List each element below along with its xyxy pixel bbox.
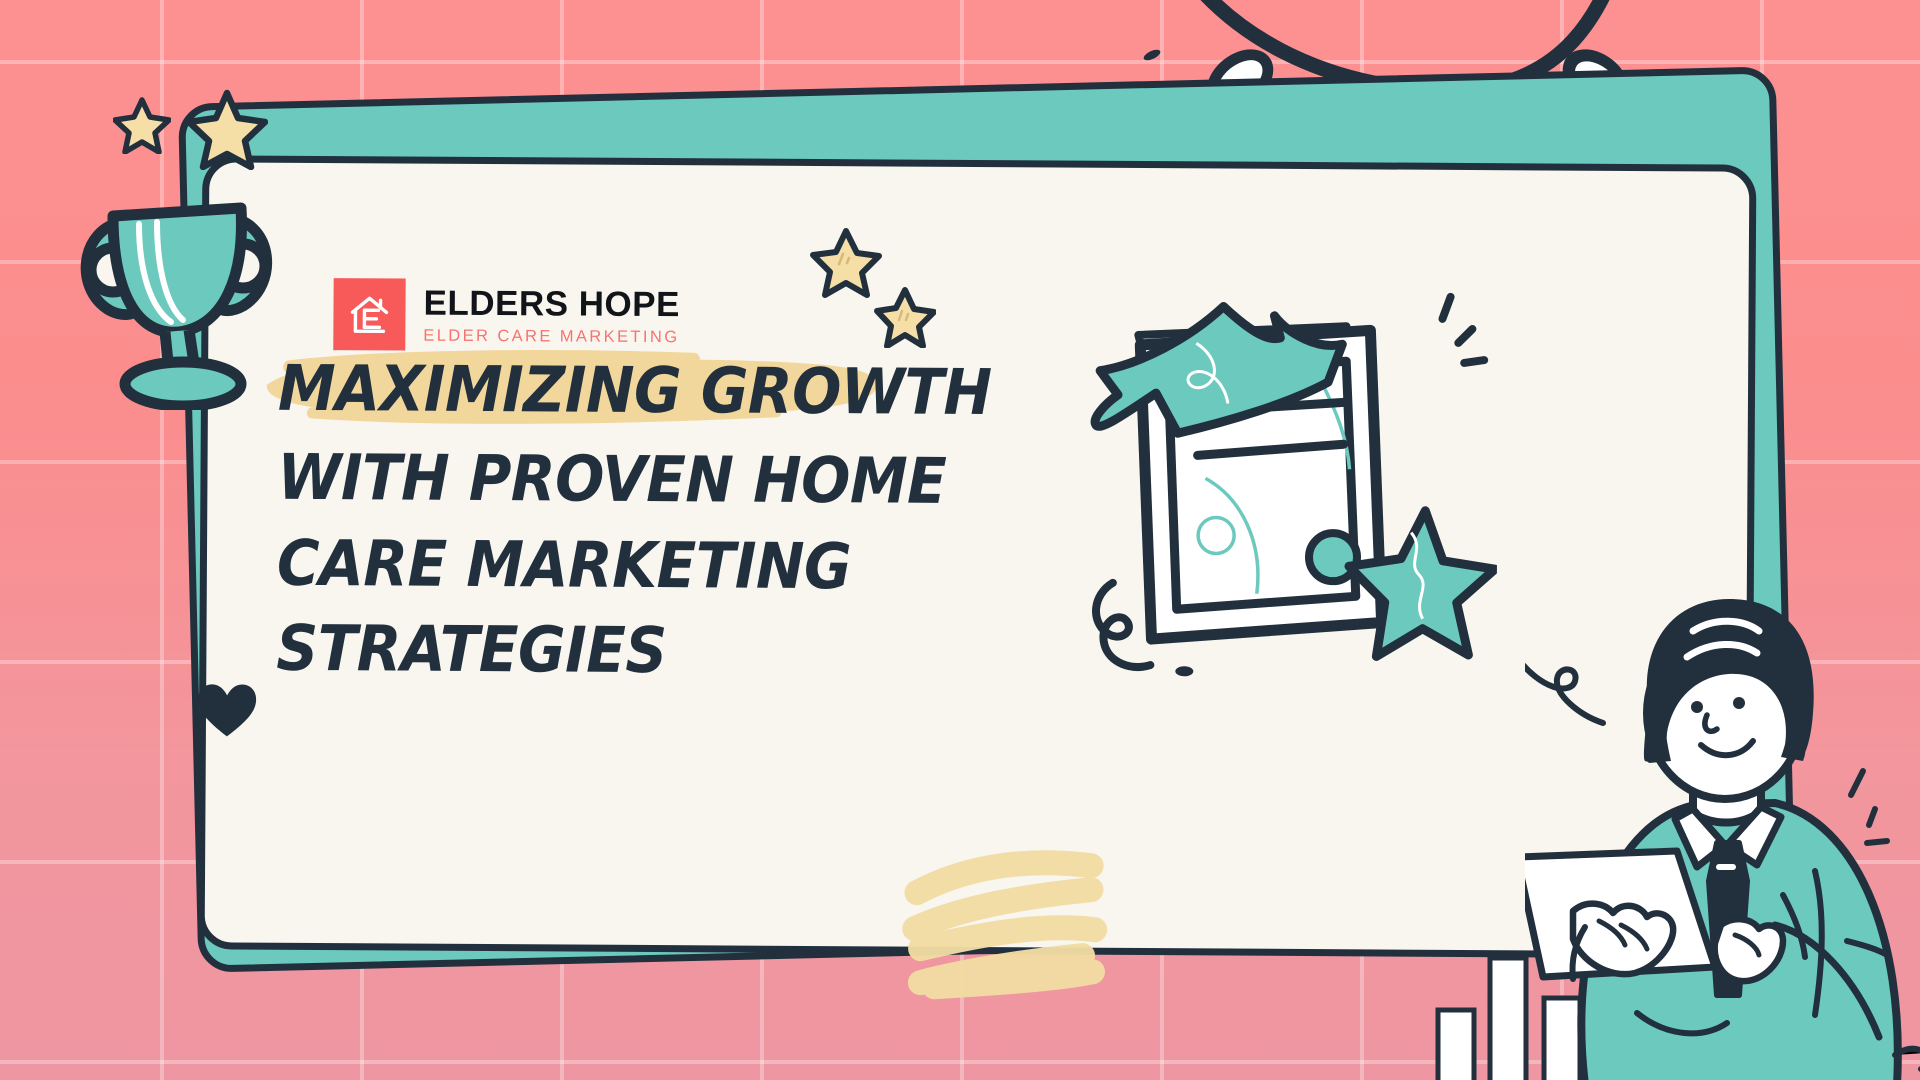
star-decoration-top-left-small bbox=[113, 96, 171, 159]
main-content-card: ELDERS HOPE ELDER CARE MARKETING MAXIMIZ… bbox=[198, 155, 1757, 958]
person-with-clipboard-illustration bbox=[1525, 595, 1920, 1080]
brand-tagline: ELDER CARE MARKETING bbox=[423, 327, 679, 345]
headline-line-4: STRATEGIES bbox=[276, 618, 957, 685]
house-with-e-icon bbox=[333, 278, 405, 350]
headline-text-1: MAXIMIZING GROWTH bbox=[278, 352, 992, 429]
star-decoration-b bbox=[874, 286, 936, 353]
brand-logo[interactable]: ELDERS HOPE ELDER CARE MARKETING bbox=[333, 278, 680, 352]
headline-text-3: CARE MARKETING bbox=[277, 526, 852, 603]
headline-line-3: CARE MARKETING bbox=[277, 532, 958, 599]
headline-block: MAXIMIZING GROWTH WITH PROVEN HOME CARE … bbox=[276, 358, 1018, 685]
star-decoration-a bbox=[810, 226, 882, 303]
brand-name: ELDERS HOPE bbox=[423, 285, 680, 322]
poster-canvas: ELDERS HOPE ELDER CARE MARKETING MAXIMIZ… bbox=[0, 0, 1920, 1080]
certificate-award-illustration bbox=[1076, 273, 1499, 706]
headline-line-2: WITH PROVEN HOME bbox=[277, 447, 958, 514]
trophy-icon bbox=[65, 160, 295, 410]
headline-text-4: STRATEGIES bbox=[276, 612, 667, 687]
headline-line-1: MAXIMIZING GROWTH bbox=[278, 358, 959, 425]
yellow-brush-scribble bbox=[894, 837, 1125, 1008]
heart-icon bbox=[196, 682, 258, 743]
headline-text-2: WITH PROVEN HOME bbox=[277, 441, 946, 518]
